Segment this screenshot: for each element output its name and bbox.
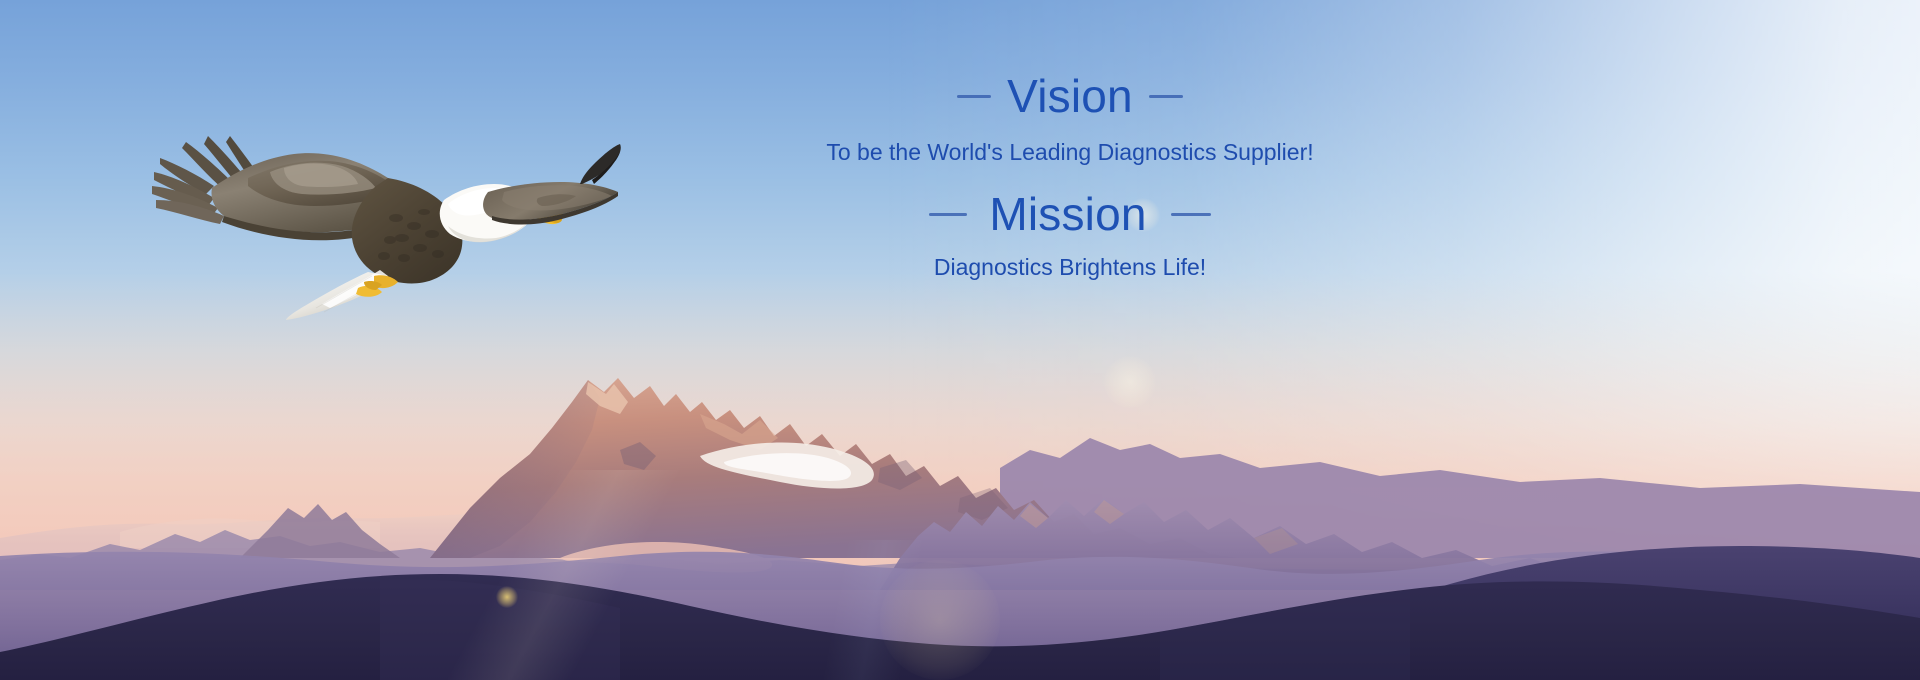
- vision-mission-text: Vision To be the World's Leading Diagnos…: [770, 72, 1370, 283]
- mission-group: Mission Diagnostics Brightens Life!: [770, 190, 1370, 284]
- vision-heading: Vision: [1007, 72, 1133, 122]
- mission-heading-row: Mission: [770, 190, 1370, 240]
- mission-heading: Mission: [989, 190, 1146, 240]
- hero-banner: Vision To be the World's Leading Diagnos…: [0, 0, 1920, 680]
- vision-rule-left: [957, 95, 991, 98]
- vision-rule-right: [1149, 95, 1183, 98]
- vision-heading-row: Vision: [770, 72, 1370, 122]
- mission-rule-right: [1171, 213, 1211, 216]
- mission-tagline: Diagnostics Brightens Life!: [770, 253, 1370, 283]
- eagle-body: [352, 178, 463, 283]
- eagle-image: [152, 130, 622, 320]
- bald-eagle-icon: [152, 130, 622, 320]
- vision-tagline: To be the World's Leading Diagnostics Su…: [770, 138, 1370, 168]
- ridge-foreground-svg: [0, 540, 1920, 680]
- ridge-foreground: [0, 540, 1920, 680]
- vision-group: Vision To be the World's Leading Diagnos…: [770, 72, 1370, 168]
- mission-rule-left: [929, 213, 967, 216]
